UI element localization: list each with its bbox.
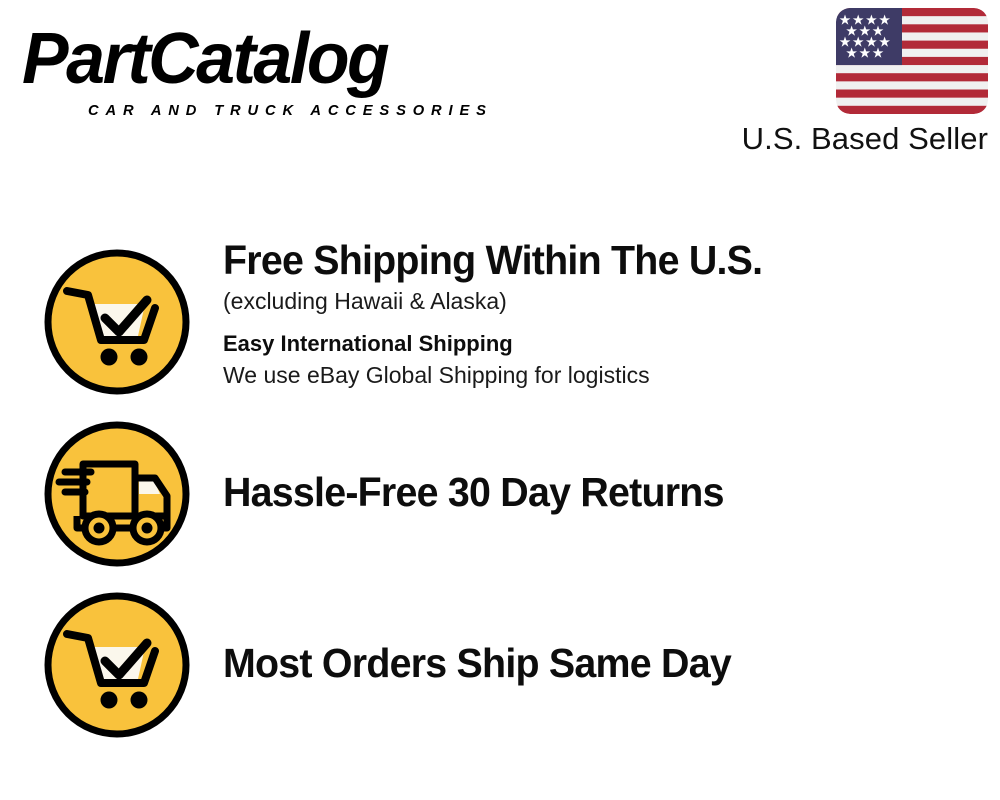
us-based-seller-badge: U.S. Based Seller [718,8,988,158]
feature-text-free-shipping: Free Shipping Within The U.S. (excluding… [223,236,943,391]
feature-secondary-subtitle: We use eBay Global Shipping for logistic… [223,359,943,391]
feature-title: Hassle-Free 30 Day Returns [223,468,914,516]
feature-title: Free Shipping Within The U.S. [223,236,914,284]
feature-text-same-day-ship: Most Orders Ship Same Day [223,639,943,687]
brand-logo[interactable]: PartCatalog CAR AND TRUCK ACCESSORIES [22,18,492,118]
feature-secondary-title: Easy International Shipping [223,329,943,359]
shopping-cart-check-icon [43,248,191,396]
us-flag-icon [836,8,988,114]
delivery-truck-icon [43,420,191,568]
seller-badge-label: U.S. Based Seller [718,120,988,158]
feature-text-returns: Hassle-Free 30 Day Returns [223,468,943,516]
logo-wordmark: PartCatalog [22,14,387,104]
feature-title: Most Orders Ship Same Day [223,639,914,687]
promo-banner: PartCatalog CAR AND TRUCK ACCESSORIES [0,0,1000,800]
shopping-cart-check-icon [43,591,191,739]
logo-tagline: CAR AND TRUCK ACCESSORIES [88,102,493,119]
feature-subtitle: (excluding Hawaii & Alaska) [223,286,943,317]
